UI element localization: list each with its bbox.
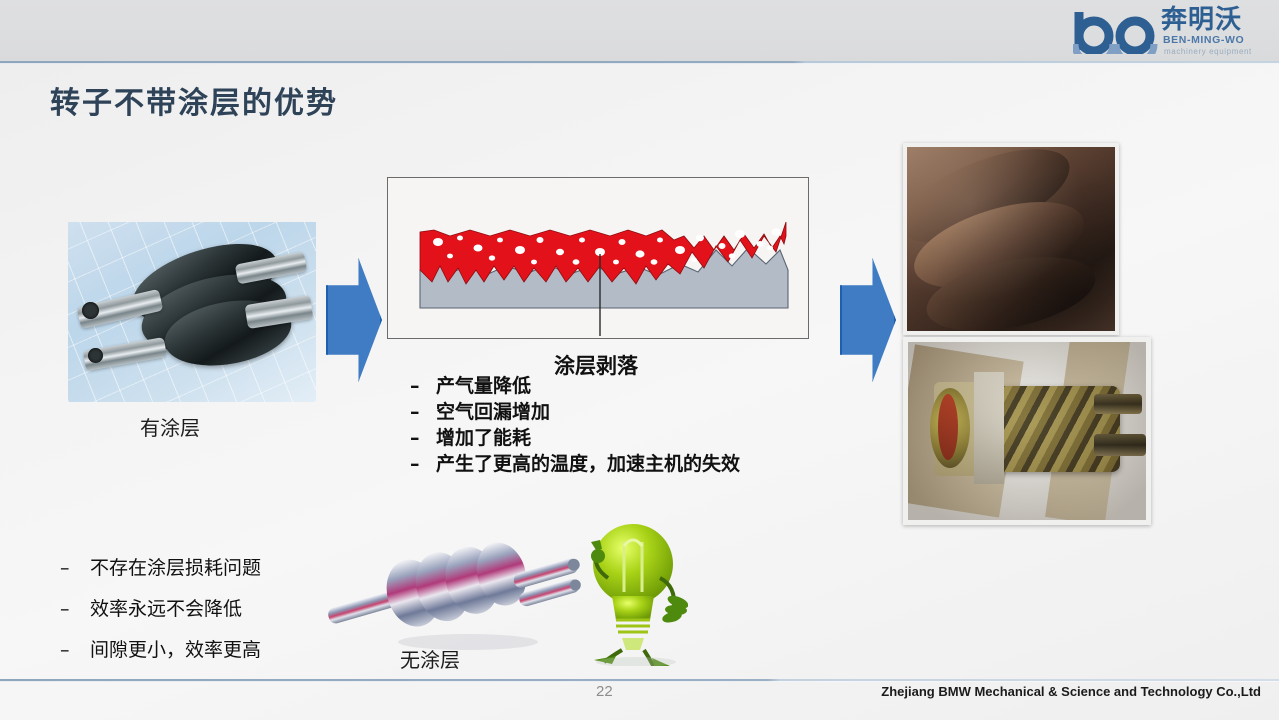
arrow-right-icon-2 — [840, 258, 896, 382]
list-item: – 效率永远不会降低 — [60, 589, 261, 630]
list-item: – 空气回漏增加 — [410, 399, 740, 425]
page-title: 转子不带涂层的优势 — [50, 78, 338, 122]
company-logo: 奔明沃 BEN-MING-WO machinery equipment — [1073, 4, 1263, 60]
list-item: – 产气量降低 — [410, 373, 740, 399]
damaged-airend-image — [908, 342, 1146, 520]
bullet-dash: – — [60, 589, 90, 630]
bullet-text: 增加了能耗 — [436, 425, 531, 451]
logo-english-name: BEN-MING-WO — [1163, 34, 1244, 46]
light-bulb-mascot-icon — [578, 516, 688, 666]
list-item: – 间隙更小，效率更高 — [60, 630, 261, 671]
header-divider — [0, 61, 1279, 64]
bullet-text: 产生了更高的温度，加速主机的失效 — [436, 451, 740, 477]
bullet-dash: – — [410, 451, 436, 477]
advantage-bullet-list: – 不存在涂层损耗问题 – 效率永远不会降低 – 间隙更小，效率更高 — [60, 548, 261, 671]
page-number: 22 — [596, 683, 613, 700]
bullet-text: 产气量降低 — [436, 373, 531, 399]
diagram-bullet-list: – 产气量降低 – 空气回漏增加 – 增加了能耗 – 产生了更高的温度，加速主机… — [410, 373, 740, 477]
bo-monogram-icon — [1073, 10, 1159, 54]
coated-rotor-photo — [68, 222, 316, 402]
bullet-dash: – — [60, 630, 90, 671]
footer-company-name: Zhejiang BMW Mechanical & Science and Te… — [881, 684, 1261, 699]
logo-chinese-name: 奔明沃 — [1161, 6, 1242, 34]
logo-tagline: machinery equipment — [1164, 47, 1252, 56]
list-item: – 不存在涂层损耗问题 — [60, 548, 261, 589]
bullet-dash: – — [60, 548, 90, 589]
bullet-dash: – — [410, 373, 436, 399]
delamination-illustration — [388, 178, 808, 338]
bullet-text: 不存在涂层损耗问题 — [90, 548, 261, 589]
arrow-right-icon-1 — [326, 258, 382, 382]
list-item: – 增加了能耗 — [410, 425, 740, 451]
bullet-text: 间隙更小，效率更高 — [90, 630, 261, 671]
uncoated-rotor-photo — [318, 530, 588, 650]
bullet-text: 空气回漏增加 — [436, 399, 550, 425]
worn-rotor-image — [907, 147, 1115, 331]
slide-canvas: 奔明沃 BEN-MING-WO machinery equipment 转子不带… — [0, 0, 1279, 720]
coated-caption: 有涂层 — [140, 412, 200, 441]
uncoated-caption: 无涂层 — [400, 644, 460, 673]
footer-divider — [0, 679, 1279, 682]
bullet-text: 效率永远不会降低 — [90, 589, 242, 630]
coating-delamination-diagram — [387, 177, 809, 339]
damaged-airend-photo — [903, 337, 1151, 525]
bullet-dash: – — [410, 425, 436, 451]
list-item: – 产生了更高的温度，加速主机的失效 — [410, 451, 740, 477]
worn-rotor-photo — [903, 143, 1119, 335]
bullet-dash: – — [410, 399, 436, 425]
